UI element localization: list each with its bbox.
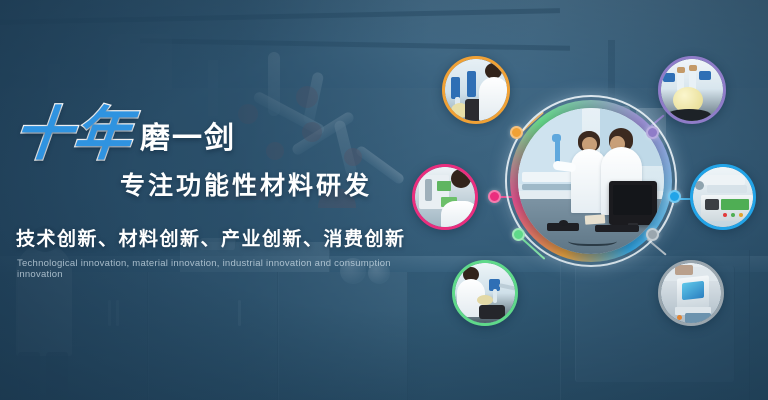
mini-display [705,199,719,210]
photo-keyboard [595,225,639,232]
central-team-photo [518,108,664,254]
satellite-photo-inner [693,167,753,227]
analyzer-terminal-photo [658,260,724,326]
headline-bold-text: 磨一剑 [140,120,236,162]
mini-base-unit [685,313,711,323]
mini-led-red [723,213,727,217]
mini-terminal-screen [682,281,704,300]
slogan-text-block: 十年 磨一剑 专注功能性材料研发 技术创新、材料创新、产业创新、消费创新 Tec… [14,106,414,280]
tagline-chinese: 技术创新、材料创新、产业创新、消费创新 [16,224,414,251]
photo-circle-cluster [400,38,768,400]
connector-node-orange [510,126,523,139]
mini-blue-clamp [663,73,675,82]
mini-green-panel [437,181,451,191]
sample-prep-photo [452,260,518,326]
headline-brush-text: 十年 [11,106,135,162]
mini-blue-valve [451,77,460,99]
satellite-photo-inner [661,263,721,323]
lab-distillation-photo [442,56,510,124]
mini-cork-stopper [677,67,685,73]
mini-blue-valve [467,71,476,97]
mini-sample-tray [675,265,693,275]
photo-cable [568,234,618,246]
mini-cork-stopper [689,65,697,71]
mini-sample-stage [707,185,747,193]
satellite-photo-inner [661,59,723,121]
mini-person-coat [479,77,507,121]
connector-node-gray [646,228,659,241]
photo-mouse [559,220,568,226]
connector-node-green [512,228,525,241]
tagline-english: Technological innovation, material innov… [17,258,414,280]
mini-upper-arm [699,175,745,185]
satellite-photo-inner [415,167,475,227]
connector-node-magenta [488,190,501,203]
mini-blue-clamp [699,71,711,80]
connector-node-purple [646,126,659,139]
mini-knob [695,181,704,190]
mini-person-head [451,169,471,188]
headline-row: 十年 磨一剑 [14,106,414,162]
mini-heating-mantle [667,109,711,121]
mini-glass-stem [493,289,497,303]
photo-monitor-screen [613,185,652,214]
qc-inspection-photo [412,164,478,230]
satellite-photo-inner [445,59,507,121]
company-hero-banner: 十年 磨一剑 专注功能性材料研发 技术创新、材料创新、产业创新、消费创新 Tec… [0,0,768,400]
mini-instrument-arm [425,179,432,201]
test-instrument-photo [690,164,756,230]
mini-hotplate [479,305,505,319]
mini-led-green [731,213,735,217]
mini-led-amber [739,213,743,217]
photo-dropper-bulb [552,134,561,142]
reaction-flask-photo [658,56,726,124]
subheadline-text: 专注功能性材料研发 [120,166,414,202]
mini-green-panel [721,199,749,210]
mini-sample-dish [477,295,493,305]
mini-led-amber [677,315,682,320]
photo-paper [585,214,606,224]
satellite-photo-inner [455,263,515,323]
mini-person-coat [441,201,475,227]
connector-node-blue [668,190,681,203]
